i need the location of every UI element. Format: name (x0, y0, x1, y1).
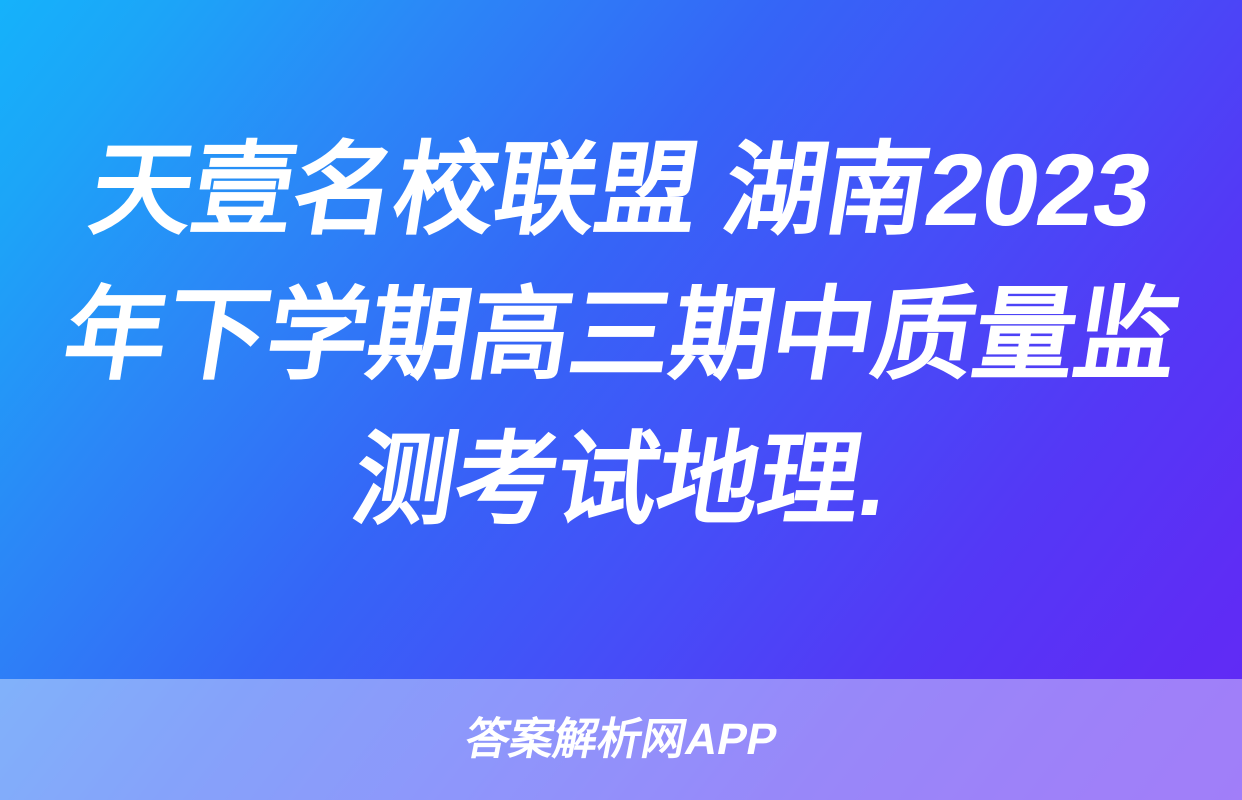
watermark-band: 答案解析网APP (0, 679, 1242, 800)
title-line-2: 年下学期高三期中质量监 (49, 263, 1194, 408)
title-line-1: 天壹名校联盟 湖南2023 (49, 118, 1194, 263)
title-line-3: 测考试地理. (49, 408, 1194, 553)
exam-cover-banner: 天壹名校联盟 湖南2023 年下学期高三期中质量监 测考试地理. 答案解析网AP… (0, 0, 1242, 800)
page-title: 天壹名校联盟 湖南2023 年下学期高三期中质量监 测考试地理. (60, 118, 1182, 553)
hero-section: 天壹名校联盟 湖南2023 年下学期高三期中质量监 测考试地理. (0, 0, 1242, 679)
watermark-app-label: 答案解析网APP (461, 718, 780, 762)
